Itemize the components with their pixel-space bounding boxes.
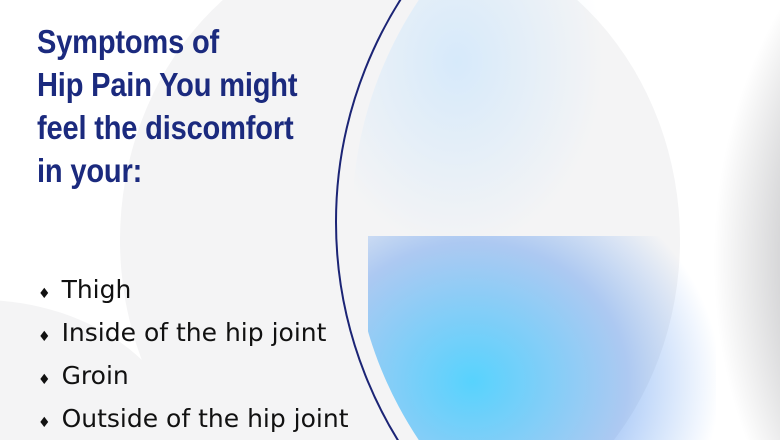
page-title: Symptoms of Hip Pain You might feel the …	[37, 20, 319, 192]
list-item: ♦ Outside of the hip joint	[38, 397, 458, 440]
diamond-bullet-icon: ♦	[38, 330, 51, 344]
diamond-bullet-icon: ♦	[38, 373, 51, 387]
diamond-bullet-icon: ♦	[38, 287, 51, 301]
list-item-label: Groin	[62, 354, 129, 397]
list-item: ♦ Inside of the hip joint	[38, 311, 458, 354]
diamond-bullet-icon: ♦	[38, 416, 51, 430]
symptom-list: ♦ Thigh ♦ Inside of the hip joint ♦ Groi…	[38, 268, 458, 440]
list-item: ♦ Thigh	[38, 268, 458, 311]
list-item-label: Thigh	[62, 268, 132, 311]
list-item-label: Outside of the hip joint	[62, 397, 349, 440]
poster-canvas: Symptoms of Hip Pain You might feel the …	[0, 0, 780, 440]
list-item: ♦ Groin	[38, 354, 458, 397]
list-item-label: Inside of the hip joint	[62, 311, 327, 354]
